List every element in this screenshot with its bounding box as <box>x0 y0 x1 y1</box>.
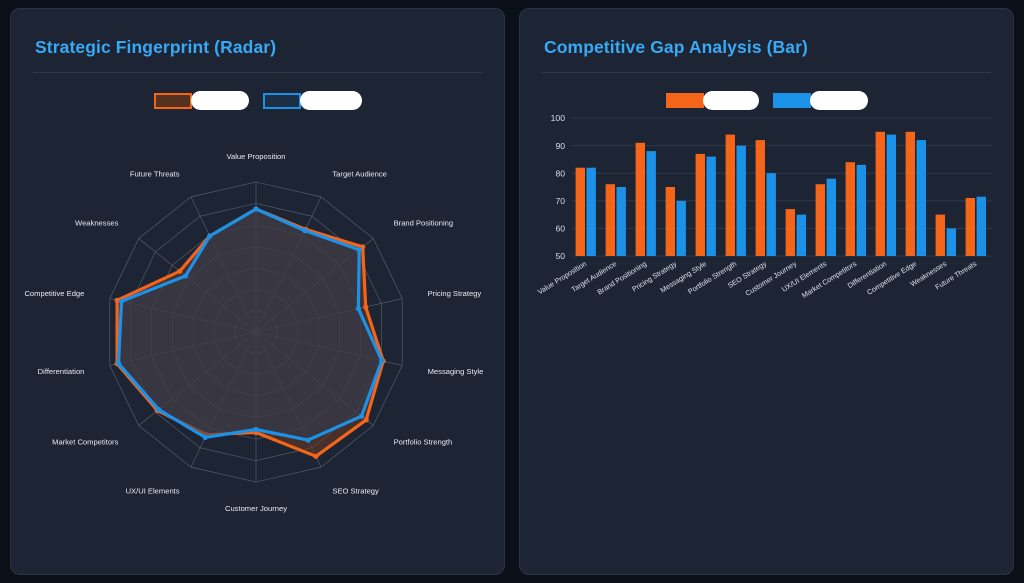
bar-legend <box>520 91 1013 110</box>
bar-bars <box>576 132 986 256</box>
dashboard: Strategic Fingerprint (Radar) Value Prop… <box>0 0 1024 583</box>
radar-axis-label: Weaknesses <box>75 218 119 227</box>
radar-data-point[interactable] <box>357 247 362 252</box>
bar-rect[interactable] <box>726 135 735 256</box>
radar-legend-label-2-redacted <box>300 91 362 110</box>
bar-rect[interactable] <box>966 198 975 256</box>
bar-rect[interactable] <box>917 140 926 256</box>
radar-axis-label: Market Competitors <box>52 438 118 447</box>
radar-legend <box>11 91 504 110</box>
radar-chart[interactable]: Value PropositionTarget AudienceBrand Po… <box>11 110 501 530</box>
radar-data-point[interactable] <box>253 206 258 211</box>
bar-y-tick-label: 80 <box>555 168 565 178</box>
radar-axis-label: Messaging Style <box>428 367 484 376</box>
bar-rect[interactable] <box>737 146 746 256</box>
radar-panel-title: Strategic Fingerprint (Radar) <box>11 9 504 58</box>
bar-rect[interactable] <box>857 165 866 256</box>
bar-legend-swatch-orange <box>666 93 704 108</box>
radar-axis-label: Target Audience <box>332 169 386 178</box>
bar-y-tick-label: 50 <box>555 251 565 261</box>
bar-rect[interactable] <box>647 151 656 256</box>
bar-title-divider <box>542 72 991 73</box>
bar-category-labels: Value PropositionTarget AudienceBrand Po… <box>536 259 978 300</box>
radar-data-point[interactable] <box>177 269 182 274</box>
radar-legend-swatch-orange <box>154 93 192 109</box>
bar-rect[interactable] <box>767 173 776 256</box>
radar-data-point[interactable] <box>207 233 212 238</box>
radar-axis-label: Competitive Edge <box>24 289 84 298</box>
radar-data-point[interactable] <box>115 298 120 303</box>
bar-rect[interactable] <box>677 201 686 256</box>
radar-axis-label: Value Proposition <box>227 152 286 161</box>
bar-rect[interactable] <box>887 135 896 256</box>
radar-data-point[interactable] <box>302 228 307 233</box>
bar-rect[interactable] <box>666 187 675 256</box>
radar-axis-label: Pricing Strategy <box>428 289 482 298</box>
radar-chart-area: Value PropositionTarget AudienceBrand Po… <box>11 110 504 530</box>
radar-data-point[interactable] <box>116 361 121 366</box>
radar-axis-label: Differentiation <box>38 367 85 376</box>
bar-rect[interactable] <box>617 187 626 256</box>
bar-rect[interactable] <box>786 209 795 256</box>
bar-y-tick-label: 60 <box>555 224 565 234</box>
bar-rect[interactable] <box>797 215 806 256</box>
bar-rect[interactable] <box>947 228 956 256</box>
bar-rect[interactable] <box>696 154 705 256</box>
radar-axis-label: Brand Positioning <box>394 218 454 227</box>
radar-data-point[interactable] <box>356 306 361 311</box>
radar-data-point[interactable] <box>313 454 318 459</box>
radar-legend-item-1[interactable] <box>154 91 249 110</box>
bar-rect[interactable] <box>906 132 915 256</box>
bar-rect[interactable] <box>756 140 765 256</box>
bar-chart[interactable]: 5060708090100Value PropositionTarget Aud… <box>520 110 1010 340</box>
bar-y-tick-label: 90 <box>555 141 565 151</box>
bar-y-tick-label: 70 <box>555 196 565 206</box>
radar-data-point[interactable] <box>359 414 364 419</box>
radar-data-point[interactable] <box>253 427 258 432</box>
bar-y-tick-label: 100 <box>551 113 566 123</box>
radar-data-point[interactable] <box>363 304 368 309</box>
radar-data-point[interactable] <box>203 435 208 440</box>
radar-data-point[interactable] <box>119 299 124 304</box>
bar-category-label: Customer Journey <box>743 259 798 298</box>
bar-rect[interactable] <box>936 215 945 256</box>
bar-legend-label-1-redacted <box>703 91 759 110</box>
bar-rect[interactable] <box>707 157 716 256</box>
radar-data-point[interactable] <box>306 438 311 443</box>
bar-rect[interactable] <box>636 143 645 256</box>
radar-axis-label: SEO Strategy <box>332 487 379 496</box>
radar-axis-label: Customer Journey <box>225 504 287 513</box>
radar-axis-label: UX/UI Elements <box>126 487 180 496</box>
bar-legend-item-1[interactable] <box>666 91 759 110</box>
bar-panel: Competitive Gap Analysis (Bar) 506070809… <box>519 8 1014 575</box>
bar-rect[interactable] <box>846 162 855 256</box>
radar-legend-swatch-blue <box>263 93 301 109</box>
bar-panel-title: Competitive Gap Analysis (Bar) <box>520 9 1013 58</box>
bar-category-label: Value Proposition <box>536 259 588 296</box>
bar-rect[interactable] <box>827 179 836 256</box>
bar-rect[interactable] <box>587 168 596 256</box>
bar-rect[interactable] <box>977 197 986 256</box>
bar-chart-area: 5060708090100Value PropositionTarget Aud… <box>520 110 1013 340</box>
radar-axis-label: Future Threats <box>130 169 180 178</box>
bar-rect[interactable] <box>576 168 585 256</box>
radar-axis-label: Portfolio Strength <box>394 438 453 447</box>
radar-data-point[interactable] <box>183 273 188 278</box>
radar-series-polygon <box>119 209 382 440</box>
bar-rect[interactable] <box>876 132 885 256</box>
bar-legend-swatch-blue <box>773 93 811 108</box>
radar-legend-label-1-redacted <box>191 91 249 110</box>
radar-legend-item-2[interactable] <box>263 91 362 110</box>
bar-rect[interactable] <box>606 184 615 256</box>
bar-legend-label-2-redacted <box>810 91 868 110</box>
radar-data-point[interactable] <box>379 358 384 363</box>
radar-data-point[interactable] <box>156 407 161 412</box>
radar-title-divider <box>33 72 482 73</box>
radar-panel: Strategic Fingerprint (Radar) Value Prop… <box>10 8 505 575</box>
bar-rect[interactable] <box>816 184 825 256</box>
radar-data-point[interactable] <box>364 417 369 422</box>
bar-legend-item-2[interactable] <box>773 91 868 110</box>
